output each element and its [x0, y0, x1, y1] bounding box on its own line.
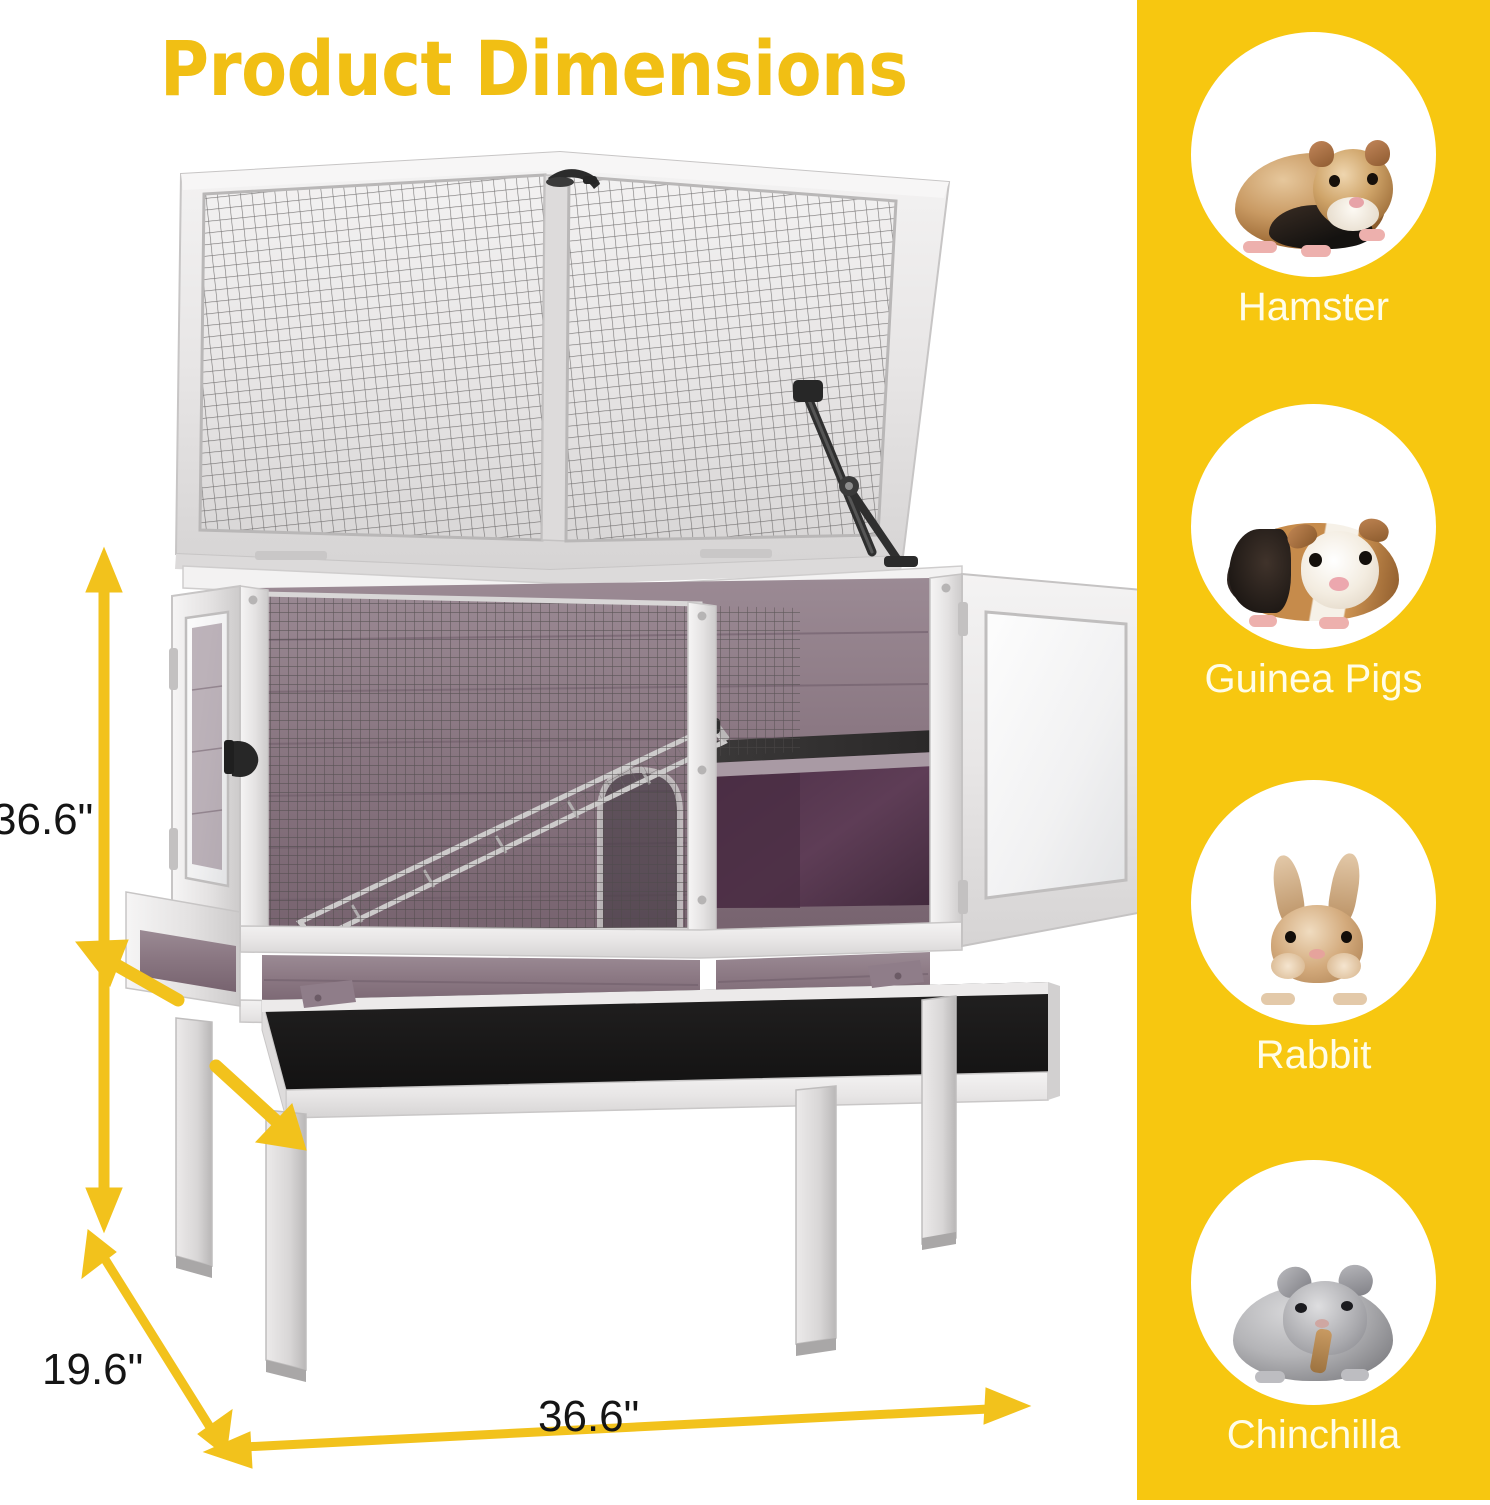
dimension-label-width: 36.6": [538, 1392, 639, 1442]
dimension-label-depth: 19.6": [42, 1345, 143, 1395]
chinchilla-illustration: [1209, 1241, 1419, 1391]
pet-item-hamster: Hamster: [1137, 32, 1490, 327]
mesh-lid-open: [175, 152, 949, 585]
hutch-drawing: [0, 0, 1137, 1500]
rabbit-photo: [1191, 780, 1436, 1025]
hamster-photo: [1191, 32, 1436, 277]
hamster-illustration: [1209, 113, 1419, 263]
chinchilla-photo: [1191, 1160, 1436, 1405]
side-window-door[interactable]: [126, 586, 258, 1006]
right-access-door-open[interactable]: [958, 574, 1137, 946]
dimension-label-height: 36.6": [0, 795, 93, 845]
guinea-pig-illustration: [1209, 485, 1419, 635]
pet-label: Hamster: [1238, 287, 1389, 327]
cabinet-body: [183, 566, 962, 1032]
compatible-pets-panel: Hamster Guinea Pigs: [1137, 0, 1490, 1500]
pet-item-chinchilla: Chinchilla: [1137, 1160, 1490, 1455]
pet-item-rabbit: Rabbit: [1137, 780, 1490, 1075]
leg-front-left: [176, 1018, 212, 1266]
front-mesh-panel-right: [716, 606, 800, 756]
leg-rear-right: [922, 996, 956, 1244]
front-mesh-panel: [262, 594, 700, 932]
pet-label: Rabbit: [1256, 1035, 1372, 1075]
pet-item-guinea-pigs: Guinea Pigs: [1137, 404, 1490, 699]
guinea-pig-photo: [1191, 404, 1436, 649]
pet-label: Guinea Pigs: [1205, 659, 1423, 699]
leg-front-right: [796, 1086, 836, 1344]
pet-label: Chinchilla: [1227, 1415, 1400, 1455]
rabbit-illustration: [1209, 861, 1419, 1011]
arrow-height: [86, 548, 122, 1232]
product-illustration: [0, 0, 1137, 1500]
